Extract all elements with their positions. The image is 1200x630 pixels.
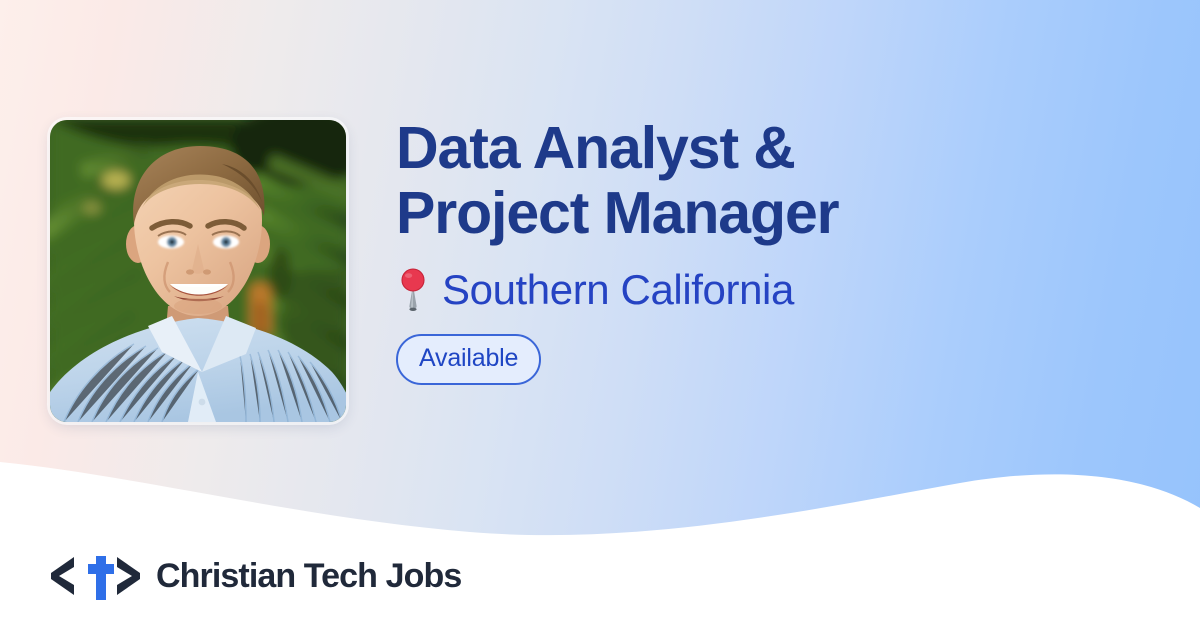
status-badge-row: Available — [396, 334, 1156, 385]
status-badge: Available — [396, 334, 541, 385]
page-title-line-2: Project Manager — [396, 181, 1156, 246]
map-pin-icon — [396, 268, 430, 312]
profile-photo — [50, 120, 346, 422]
brand-footer: Christian Tech Jobs — [48, 548, 461, 604]
page-title: Data Analyst & Project Manager — [396, 116, 1156, 246]
profile-photo-image — [50, 120, 346, 422]
location-row: Southern California — [396, 262, 1156, 318]
code-brackets-cross-logo — [48, 548, 142, 604]
page-title-line-1: Data Analyst & — [396, 116, 1156, 181]
social-share-card: Data Analyst & Project Manager Southern … — [0, 0, 1200, 630]
brand-name: Christian Tech Jobs — [156, 557, 461, 596]
job-info: Data Analyst & Project Manager Southern … — [396, 116, 1156, 385]
location-text: Southern California — [442, 269, 794, 311]
